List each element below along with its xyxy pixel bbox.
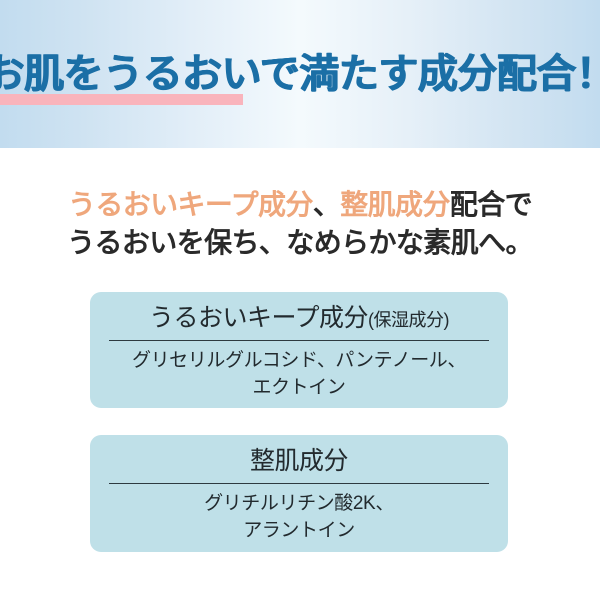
card-moisture-heading: うるおいキープ成分(保湿成分) [106,301,492,337]
subtitle-line-1: うるおいキープ成分、整肌成分配合で [0,186,600,224]
card-conditioning-body: グリチルリチン酸2K、 アラントイン [106,484,492,544]
header-banner: お肌をうるおいで満たす成分配合！ [0,0,600,148]
page-title: お肌をうるおいで満たす成分配合！ [0,54,600,94]
subtitle-block: うるおいキープ成分、整肌成分配合で うるおいを保ち、なめらかな素肌へ。 [0,186,600,262]
subtitle-separator: 、 [313,189,340,220]
ingredient-card-moisture: うるおいキープ成分(保湿成分) グリセリルグルコシド、パンテノール、 エクトイン [90,292,508,408]
card-conditioning-heading: 整肌成分 [106,444,492,480]
card-moisture-body-line-2: エクトイン [106,374,492,401]
card-conditioning-body-line-1: グリチルリチン酸2K、 [106,490,492,517]
headline-highlighted-text: お肌をうるおいで [0,52,299,96]
subtitle-accent-moisture: うるおいキープ成分 [68,189,313,220]
card-moisture-heading-sub: (保湿成分) [368,310,449,330]
card-conditioning-heading-main: 整肌成分 [250,447,348,475]
card-conditioning-body-line-2: アラントイン [106,517,492,544]
headline-rest-text: 満たす成分配合！ [299,52,600,96]
headline-wrapper: お肌をうるおいで満たす成分配合！ [0,0,600,148]
subtitle-line-2: うるおいを保ち、なめらかな素肌へ。 [0,224,600,262]
card-moisture-body: グリセリルグルコシド、パンテノール、 エクトイン [106,341,492,401]
ingredient-card-conditioning: 整肌成分 グリチルリチン酸2K、 アラントイン [90,435,508,552]
subtitle-tail: 配合で [450,189,532,220]
card-moisture-heading-main: うるおいキープ成分 [149,304,368,332]
card-moisture-body-line-1: グリセリルグルコシド、パンテノール、 [106,347,492,374]
subtitle-accent-conditioning: 整肌成分 [340,189,450,220]
